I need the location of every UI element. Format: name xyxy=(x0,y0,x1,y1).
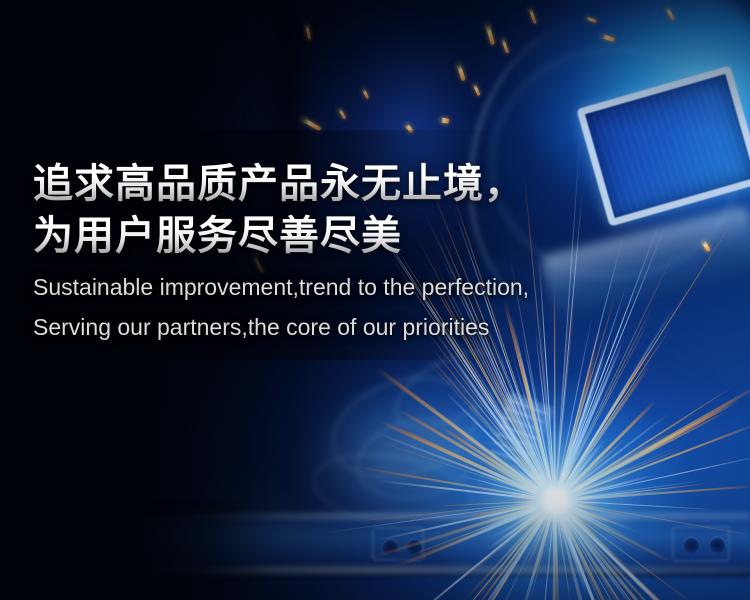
headline-line-1: 追求高品质产品永无止境， xyxy=(33,158,723,210)
headline-line-2: 为用户服务尽善尽美 xyxy=(33,210,723,262)
subheadline-line-2: Serving our partners,the core of our pri… xyxy=(33,312,723,342)
slogan-block: 追求高品质产品永无止境， 为用户服务尽善尽美 Sustainable impro… xyxy=(33,158,723,342)
subheadline-line-1: Sustainable improvement,trend to the per… xyxy=(33,272,723,302)
hero-banner: 追求高品质产品永无止境， 为用户服务尽善尽美 Sustainable impro… xyxy=(0,0,750,600)
